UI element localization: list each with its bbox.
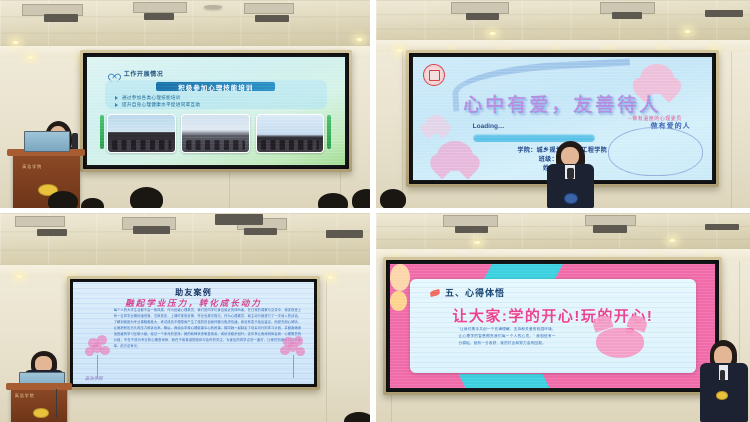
projector-icon: [133, 226, 170, 234]
photo-panel-bottom-left: 助友案例 融起学业压力，转化成长动力 每个人的大学生活都不会一帆风顺，作为班级心…: [0, 213, 370, 422]
slide4-header: 五、心得体悟: [430, 286, 505, 299]
slide1-thumbnail-row: [107, 114, 324, 153]
slide-case-study: 助友案例 融起学业压力，转化成长动力 每个人的大学生活都不会一帆风顺，作为班级心…: [73, 282, 315, 385]
badge-icon: [716, 391, 727, 400]
ceiling-light: [15, 274, 24, 279]
projector-icon: [612, 12, 642, 19]
photo-panel-top-left: 工作开展情况 积极参加心理技能培训 通过参加各类心理技能培训 提升自身心理健康水…: [0, 0, 370, 208]
photo-collage: 工作开展情况 积极参加心理技能培训 通过参加各类心理技能培训 提升自身心理健康水…: [0, 0, 750, 422]
ceiling-vent: [443, 215, 497, 227]
slide4-body-text: "让我们携手共创一个充满理解、支持和关爱的校园环境，让心理学的智慧照亮我们每一个…: [459, 326, 556, 348]
slide3-signature: 高浩学院: [85, 376, 103, 382]
slide1-header-text: 工作开展情况: [124, 69, 164, 78]
projector-icon: [215, 214, 263, 225]
ceiling-vent: [133, 2, 187, 13]
projector-icon: [455, 226, 489, 234]
ceiling-light: [683, 29, 692, 34]
ceiling: [376, 0, 750, 42]
projector-icon: [44, 14, 77, 22]
audience-head: [48, 191, 78, 208]
ceiling-vent: [15, 216, 65, 228]
podium-top: [6, 383, 73, 389]
audience-head: [318, 193, 348, 208]
wall-seam: [402, 52, 403, 208]
pink-dog-illustration: [596, 328, 645, 358]
slide1-thumbnail: [107, 114, 176, 153]
corner-decoration: [484, 264, 563, 279]
slide4-card: 五、心得体悟 让大家:学的开心!玩的开心! "让我们携手共创一个充满理解、支持和…: [410, 279, 696, 373]
school-seal-icon: [423, 64, 445, 86]
ceiling: [0, 213, 370, 267]
blossom: [92, 343, 102, 353]
projector-icon: [244, 228, 277, 235]
presentation-screen: 五、心得体悟 让大家:学的开心!玩的开心! "让我们携手共创一个充满理解、支持和…: [390, 264, 715, 388]
corner-decoration: [390, 291, 406, 311]
tree-trunk: [293, 355, 295, 378]
projector-icon: [705, 224, 739, 231]
audience-head: [380, 189, 406, 208]
projector-icon: [144, 13, 174, 20]
head: [35, 356, 52, 371]
loading-label: Loading…: [473, 123, 505, 130]
projector-icon: [705, 10, 742, 17]
projector-icon: [466, 13, 500, 20]
led-screen-frame: 助友案例 融起学业压力，转化成长动力 每个人的大学生活都不会一帆风顺，作为班级心…: [67, 276, 321, 391]
blossom-tree-decoration: [82, 333, 113, 378]
ceiling-grid: [376, 0, 750, 42]
slide1-bullet: 通过参加各类心理技能培训: [115, 95, 181, 101]
ceiling-light: [11, 40, 20, 45]
slide1-bullet: 提升自身心理健康水平促进同辈互助: [115, 102, 200, 108]
slide-work-progress: 工作开展情况 积极参加心理技能培训 通过参加各类心理技能培训 提升自身心理健康水…: [87, 57, 345, 165]
microphone-icon: [720, 370, 726, 381]
presentation-screen: 助友案例 融起学业压力，转化成长动力 每个人的大学生活都不会一帆风顺，作为班级心…: [73, 282, 315, 385]
slide4-header-text: 五、心得体悟: [445, 286, 505, 299]
slide1-bullet-text: 提升自身心理健康水平促进同辈互助: [122, 102, 200, 108]
slide1-thumbnail: [181, 114, 250, 153]
photo-panel-top-right: 心中有爱，友善待人 --做有温度的心理委员 Loading… 做有爱的人 学院：…: [376, 0, 750, 208]
wall-seam: [326, 278, 327, 422]
corner-decoration: [459, 374, 550, 388]
photo-panel-bottom-right: 五、心得体悟 让大家:学的开心!玩的开心! "让我们携手共创一个充满理解、支持和…: [376, 213, 750, 422]
blossom-tree-decoration: [278, 333, 309, 378]
microphone-icon: [567, 168, 573, 179]
ceiling: [376, 213, 750, 251]
wall-seam: [731, 52, 732, 208]
slide3-body-text: 每个人的大学生活都不会一帆风顺，作为班级心理委员，我们是同学们身边最近的倾听者。…: [114, 308, 301, 349]
led-screen-frame: 五、心得体悟 让大家:学的开心!玩的开心! "让我们携手共创一个充满理解、支持和…: [383, 257, 722, 395]
podium-emblem: [33, 408, 48, 418]
badge-icon: [564, 193, 578, 204]
slide1-title: 积极参加心理技能培训: [178, 82, 253, 92]
ceiling-light: [326, 275, 335, 280]
slide1-accent-bar: [100, 115, 104, 149]
microphone-cord: [56, 389, 58, 418]
slide4-main-text: 让大家:学的开心!玩的开心!: [410, 305, 696, 326]
bird-icon: [429, 289, 440, 297]
projector-icon: [37, 229, 67, 236]
slide1-header: 工作开展情况: [110, 69, 164, 78]
slide1-bullet-text: 通过参加各类心理技能培训: [122, 95, 181, 101]
slide2-title: 心中有爱，友善待人: [413, 90, 712, 117]
audience-head: [81, 198, 103, 208]
slide-reflections: 五、心得体悟 让大家:学的开心!玩的开心! "让我们携手共创一个充满理解、支持和…: [390, 264, 715, 388]
audience-head: [130, 187, 163, 208]
projector-icon: [326, 230, 363, 238]
head: [561, 147, 579, 166]
tree-trunk: [97, 355, 99, 378]
presenter-bottom-right: [698, 340, 750, 422]
ceiling-vent: [244, 3, 294, 15]
projector-icon: [255, 15, 288, 22]
slide1-thumbnail: [256, 114, 325, 153]
presenter-top-right: [544, 141, 596, 208]
projector-icon: [593, 225, 627, 233]
slide1-accent-bar: [327, 115, 331, 149]
arrow-icon: [115, 103, 118, 107]
ceiling: [0, 0, 370, 48]
podium-label: 高浩学院: [15, 393, 35, 399]
heart-icon: [110, 69, 119, 77]
projector-mount: [204, 5, 223, 9]
slide1-title-box: 积极参加心理技能培训: [156, 82, 275, 91]
arrow-icon: [115, 96, 118, 100]
podium-label: 高浩学院: [22, 164, 42, 170]
corner-decoration: [390, 264, 409, 291]
ceiling-light: [668, 238, 677, 243]
laptop-screen: [24, 131, 70, 152]
ceiling-grid: [376, 213, 750, 251]
ceiling-light: [395, 48, 404, 53]
presentation-screen: 工作开展情况 积极参加心理技能培训 通过参加各类心理技能培训 提升自身心理健康水…: [87, 57, 345, 165]
led-screen-frame: 工作开展情况 积极参加心理技能培训 通过参加各类心理技能培训 提升自身心理健康水…: [80, 50, 352, 172]
heart-decoration: [425, 115, 447, 134]
